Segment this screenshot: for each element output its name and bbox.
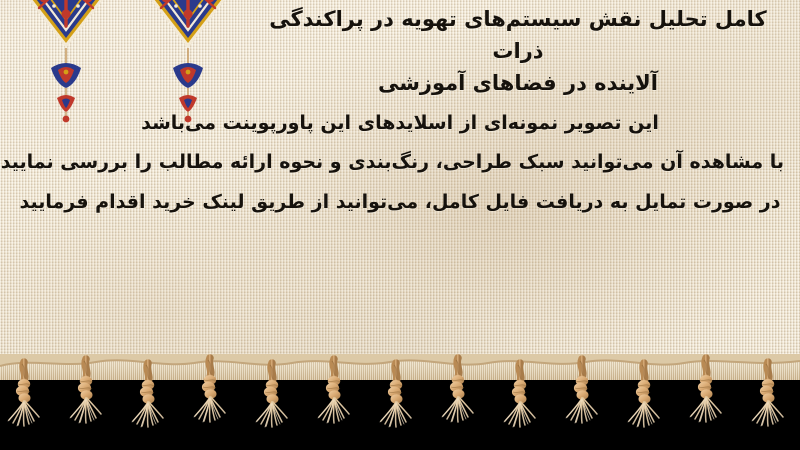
body-line-1: این تصویر نمونه‌ای از اسلایدهای این پاور… xyxy=(16,104,784,143)
slide-body: این تصویر نمونه‌ای از اسلایدهای این پاور… xyxy=(16,104,784,222)
slide-title-line-1: کامل تحلیل نقش سیستم‌های تهویه در پراکند… xyxy=(269,7,767,63)
slide-title: کامل تحلیل نقش سیستم‌های تهویه در پراکند… xyxy=(258,4,778,100)
slide-canvas: کامل تحلیل نقش سیستم‌های تهویه در پراکند… xyxy=(0,0,800,450)
slide-title-line-2: آلاینده در فضاهای آموزشی xyxy=(378,71,658,95)
knotted-tassel-fringe xyxy=(0,354,800,450)
body-line-2: با مشاهده آن می‌توانید سبک طراحی، رنگ‌بن… xyxy=(16,143,784,182)
body-line-3: در صورت تمایل به دریافت فایل کامل، می‌تو… xyxy=(16,183,784,222)
